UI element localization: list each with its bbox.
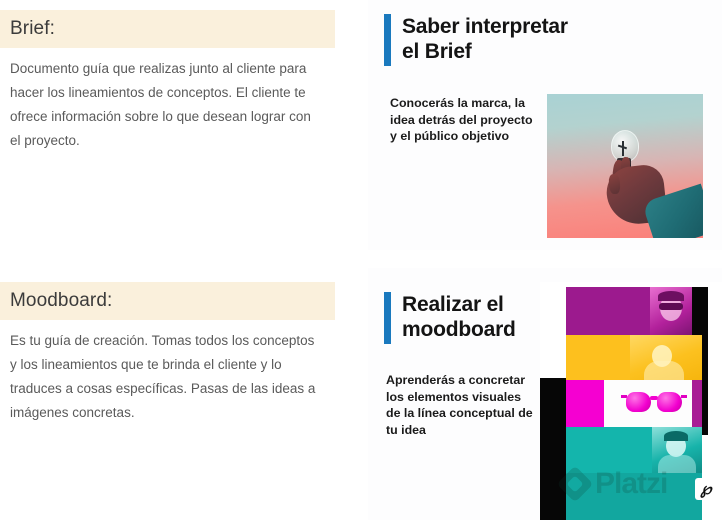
collage-cell-sunglasses-product [604,380,692,427]
lightbulb-in-hand-photo [547,94,703,238]
portrait-body [658,455,696,473]
moodboard-collage-photo: Platzi ℘ [540,282,722,520]
sunglasses-lens-left [626,392,651,412]
note-heading-text: Brief: [10,18,55,40]
note-heading-banner: Moodboard: [0,282,335,320]
slide-page: Brief: Documento guía que realizas junto… [0,0,722,520]
portrait-body [644,361,684,380]
sunglasses-arm [681,395,687,398]
sunglasses-product-icon [626,392,682,414]
note-heading-banner: Brief: [0,10,335,48]
card-subtitle: Conocerás la marca, la idea detrás del p… [390,95,540,145]
note-body-text: Documento guía que realizas junto al cli… [0,48,335,153]
collage-cell-portrait-yellow [630,335,702,380]
card-title: Saber interpretar el Brief [402,14,587,64]
sunglasses-lens-right [657,392,682,412]
note-block-brief: Brief: Documento guía que realizas junto… [0,10,335,153]
card-subtitle: Aprenderás a concretar los elementos vis… [386,372,536,438]
note-block-moodboard: Moodboard: Es tu guía de creación. Tomas… [0,282,335,425]
collage-cell-magenta [566,380,604,427]
collage-cell-portrait-teal [652,427,702,473]
collage-black-bar-left [540,378,566,520]
card-header: Saber interpretar el Brief [384,14,587,66]
left-notes-column: Brief: Documento guía que realizas junto… [0,0,352,520]
accent-bar-icon [384,14,391,66]
finger-shape [608,174,620,195]
note-body-text: Es tu guía de creación. Tomas todos los … [0,320,335,425]
note-heading-text: Moodboard: [10,290,112,312]
collage-cell-portrait-sunglasses [650,287,692,335]
collage-strip-purple [692,380,702,427]
sunglasses-icon [659,303,683,310]
collage-cell-teal-lower [566,473,702,520]
corner-logo-icon: ℘ [695,478,717,500]
portrait-hair [664,431,688,441]
portrait-hair [658,291,684,301]
lightbulb-filament-icon [622,141,624,156]
accent-bar-icon [384,292,391,344]
